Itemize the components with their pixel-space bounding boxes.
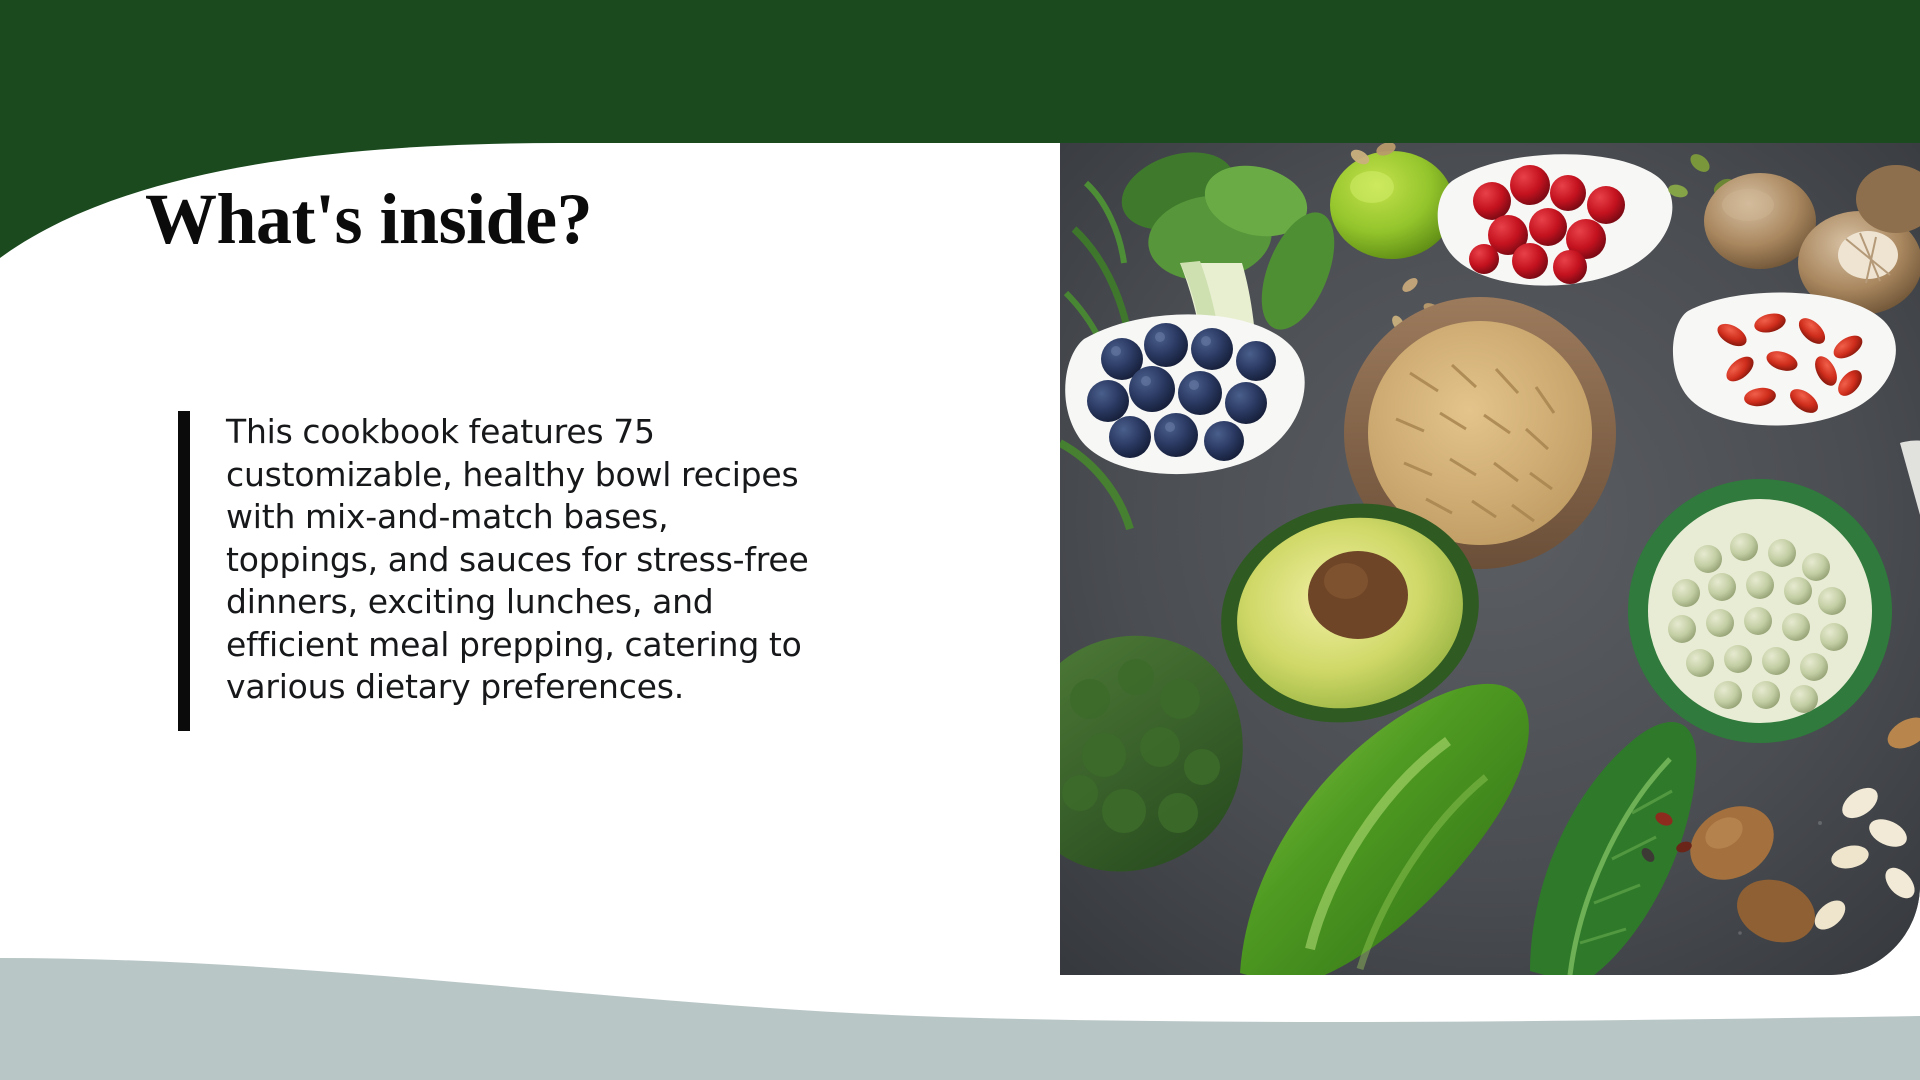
slide-canvas: What's inside? This cookbook features 75… [0, 0, 1920, 1080]
photo-illustration [1060, 143, 1920, 975]
body-paragraph: This cookbook features 75 customizable, … [190, 411, 826, 709]
lime [1330, 151, 1454, 259]
accent-bar [178, 411, 190, 731]
text-content-area: What's inside? This cookbook features 75… [0, 0, 1060, 1080]
healthy-food-photo [1060, 143, 1920, 975]
page-title: What's inside? [145, 182, 592, 258]
photo-canvas [1060, 143, 1920, 975]
body-block: This cookbook features 75 customizable, … [178, 411, 826, 731]
pea-bowl [1628, 479, 1892, 743]
